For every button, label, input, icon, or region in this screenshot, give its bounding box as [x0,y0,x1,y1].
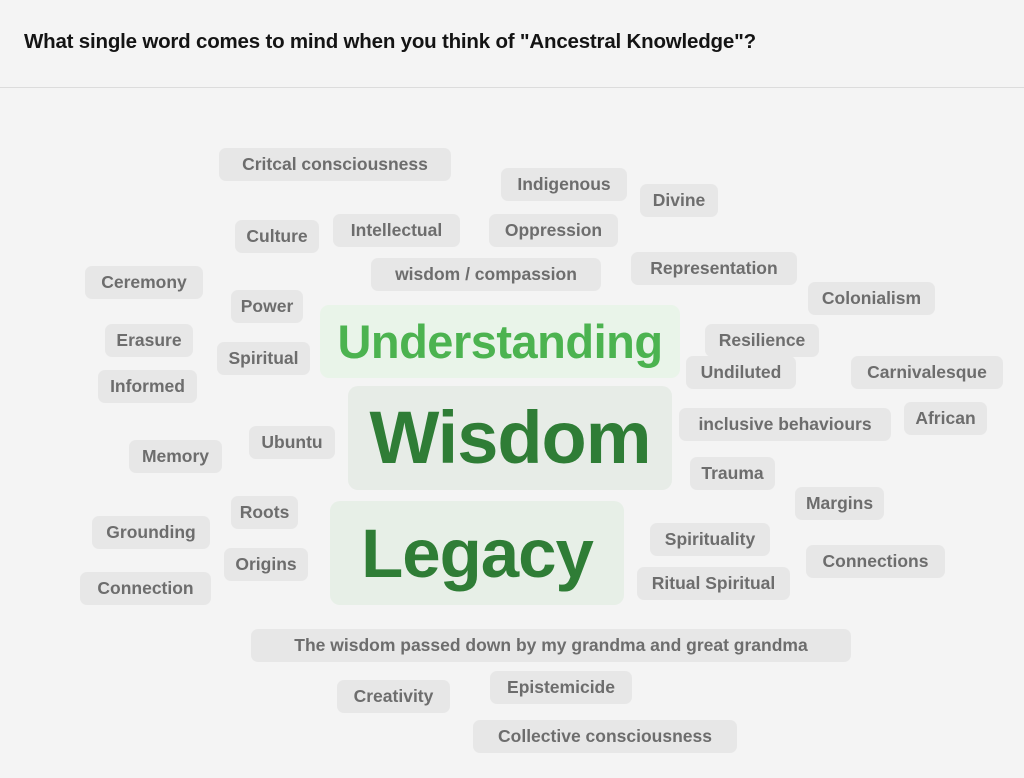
word-cloud-item[interactable]: Divine [640,184,718,217]
word-cloud-item[interactable]: Understanding [320,305,680,378]
word-cloud-item[interactable]: Informed [98,370,197,403]
page-title: What single word comes to mind when you … [24,30,756,54]
word-cloud-item[interactable]: Margins [795,487,884,520]
word-cloud-canvas: Critcal consciousnessIndigenousDivineCul… [0,89,1024,778]
word-cloud-item[interactable]: Indigenous [501,168,627,201]
word-cloud-item[interactable]: Memory [129,440,222,473]
word-cloud-item[interactable]: Representation [631,252,797,285]
word-cloud-item[interactable]: Collective consciousness [473,720,737,753]
word-cloud-item[interactable]: Intellectual [333,214,460,247]
word-cloud-item[interactable]: Erasure [105,324,193,357]
word-cloud-item[interactable]: Grounding [92,516,210,549]
word-cloud-item[interactable]: Roots [231,496,298,529]
word-cloud-item[interactable]: Ceremony [85,266,203,299]
word-cloud-item[interactable]: Spirituality [650,523,770,556]
word-cloud-item[interactable]: Epistemicide [490,671,632,704]
word-cloud-item[interactable]: Trauma [690,457,775,490]
word-cloud-item[interactable]: Connections [806,545,945,578]
word-cloud-item[interactable]: Resilience [705,324,819,357]
word-cloud-item[interactable]: Ubuntu [249,426,335,459]
word-cloud-item[interactable]: Critcal consciousness [219,148,451,181]
word-cloud-item[interactable]: Colonialism [808,282,935,315]
word-cloud-item[interactable]: Spiritual [217,342,310,375]
word-cloud-item[interactable]: Carnivalesque [851,356,1003,389]
word-cloud-item[interactable]: Creativity [337,680,450,713]
word-cloud-item[interactable]: Connection [80,572,211,605]
word-cloud-item[interactable]: wisdom / compassion [371,258,601,291]
word-cloud-item[interactable]: African [904,402,987,435]
word-cloud-item[interactable]: Ritual Spiritual [637,567,790,600]
word-cloud-item[interactable]: The wisdom passed down by my grandma and… [251,629,851,662]
word-cloud-item[interactable]: Legacy [330,501,624,605]
word-cloud-item[interactable]: inclusive behaviours [679,408,891,441]
word-cloud-item[interactable]: Undiluted [686,356,796,389]
page-header: What single word comes to mind when you … [0,0,1024,88]
word-cloud-item[interactable]: Origins [224,548,308,581]
word-cloud-page: What single word comes to mind when you … [0,0,1024,778]
word-cloud-item[interactable]: Oppression [489,214,618,247]
word-cloud-item[interactable]: Wisdom [348,386,672,490]
word-cloud-item[interactable]: Power [231,290,303,323]
word-cloud-item[interactable]: Culture [235,220,319,253]
